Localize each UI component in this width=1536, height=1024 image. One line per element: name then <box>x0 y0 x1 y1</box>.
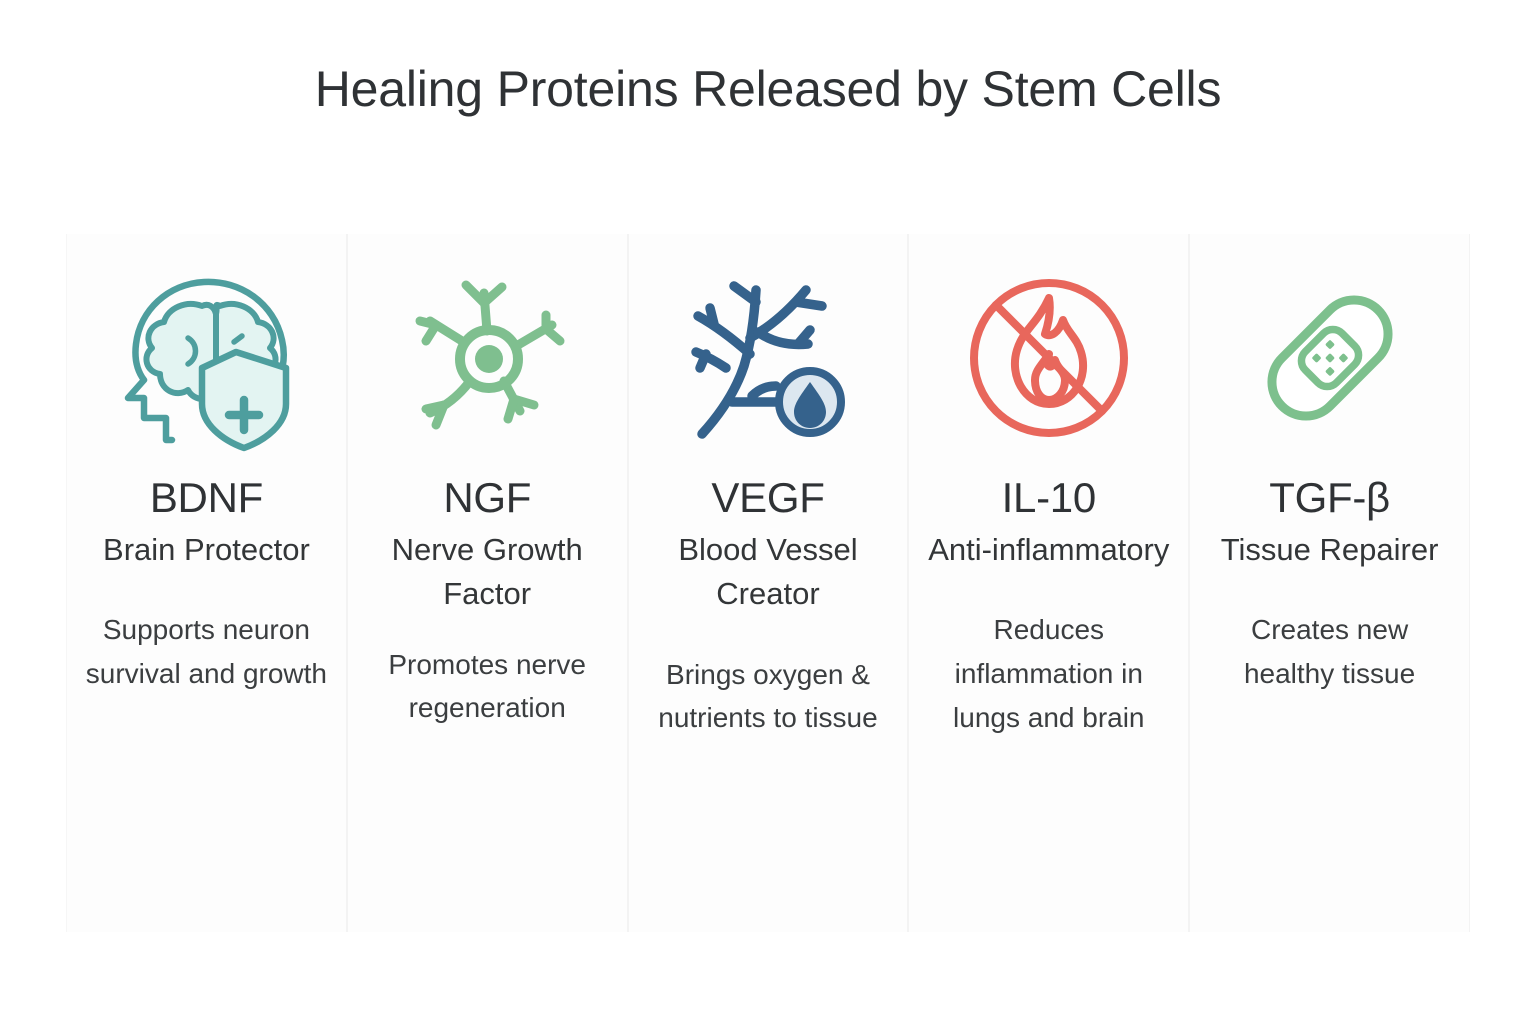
icon-slot <box>106 240 306 476</box>
protein-description: Creates new healthy tissue <box>1205 608 1455 695</box>
blood-vessel-droplet-icon <box>670 262 865 454</box>
protein-abbr: IL-10 <box>1002 476 1096 520</box>
protein-role: Anti-inflammatory <box>928 528 1169 572</box>
no-flame-icon <box>959 268 1139 448</box>
protein-abbr: VEGF <box>711 476 824 520</box>
neuron-icon <box>392 263 582 453</box>
protein-role: Tissue Repairer <box>1221 528 1439 572</box>
bandage-icon <box>1240 268 1420 448</box>
protein-abbr: NGF <box>443 476 531 520</box>
protein-description: Reduces inflammation in lungs and brain <box>924 608 1174 739</box>
protein-card-row: BDNF Brain Protector Supports neuron sur… <box>66 234 1470 932</box>
icon-slot <box>959 240 1139 476</box>
page-title-container: Healing Proteins Released by Stem Cells <box>0 62 1536 117</box>
protein-abbr: TGF-β <box>1269 476 1390 520</box>
icon-slot <box>392 240 582 476</box>
infographic-page: Healing Proteins Released by Stem Cells <box>0 0 1536 1024</box>
protein-role: Brain Protector <box>103 528 310 572</box>
protein-card-bdnf[interactable]: BDNF Brain Protector Supports neuron sur… <box>66 234 347 932</box>
protein-description: Brings oxygen & nutrients to tissue <box>643 653 893 740</box>
protein-card-vegf[interactable]: VEGF Blood Vessel Creator Brings oxygen … <box>628 234 909 932</box>
icon-slot <box>1240 240 1420 476</box>
protein-role: Blood Vessel Creator <box>638 528 898 617</box>
icon-slot <box>670 240 865 476</box>
protein-card-ngf[interactable]: NGF Nerve Growth Factor Promotes nerve r… <box>347 234 628 932</box>
brain-shield-icon <box>106 260 306 456</box>
page-title: Healing Proteins Released by Stem Cells <box>0 62 1536 117</box>
protein-card-il10[interactable]: IL-10 Anti-inflammatory Reduces inflamma… <box>908 234 1189 932</box>
protein-card-tgfb[interactable]: TGF-β Tissue Repairer Creates new health… <box>1189 234 1470 932</box>
protein-role: Nerve Growth Factor <box>357 528 617 617</box>
protein-description: Promotes nerve regeneration <box>362 643 612 730</box>
protein-description: Supports neuron survival and growth <box>81 608 331 695</box>
protein-abbr: BDNF <box>150 476 263 520</box>
